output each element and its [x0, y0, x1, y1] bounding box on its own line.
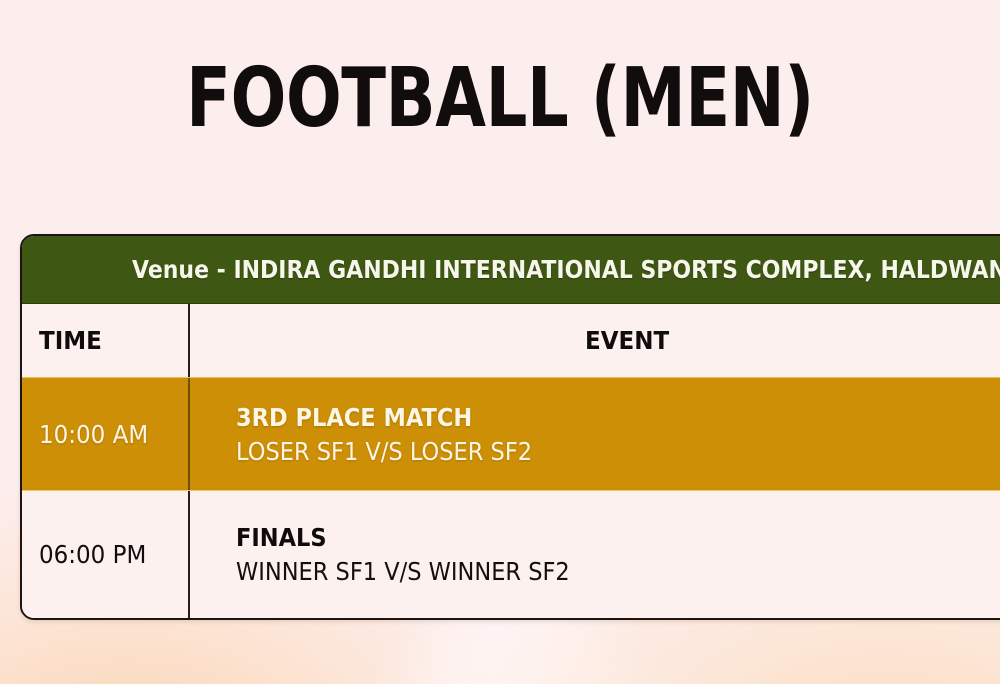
match-teams: WINNER SF1 V/S WINNER SF2 — [236, 557, 947, 586]
column-header-time: TIME — [39, 326, 102, 355]
schedule-table: Venue - INDIRA GANDHI INTERNATIONAL SPOR… — [20, 234, 1000, 620]
column-header-event: EVENT — [585, 326, 669, 355]
match-time: 10:00 AM — [39, 420, 148, 449]
header-cell-time: TIME — [22, 304, 190, 377]
row-cell-event: FINALS WINNER SF1 V/S WINNER SF2 — [190, 491, 1000, 618]
page-title: FOOTBALL (MEN) — [100, 58, 900, 140]
match-time: 06:00 PM — [39, 540, 146, 569]
table-header-row: TIME EVENT — [22, 304, 1000, 377]
header-cell-event: EVENT — [190, 304, 1000, 377]
venue-header: Venue - INDIRA GANDHI INTERNATIONAL SPOR… — [22, 236, 1000, 304]
row-cell-time: 10:00 AM — [22, 378, 190, 490]
row-cell-event: 3RD PLACE MATCH LOSER SF1 V/S LOSER SF2 — [190, 378, 1000, 490]
match-title: FINALS — [236, 523, 947, 552]
match-title: 3RD PLACE MATCH — [236, 403, 947, 432]
table-row: 06:00 PM FINALS WINNER SF1 V/S WINNER SF… — [22, 491, 1000, 618]
table-row: 10:00 AM 3RD PLACE MATCH LOSER SF1 V/S L… — [22, 377, 1000, 491]
match-teams: LOSER SF1 V/S LOSER SF2 — [236, 437, 947, 466]
venue-label: Venue - INDIRA GANDHI INTERNATIONAL SPOR… — [132, 255, 1000, 284]
row-cell-time: 06:00 PM — [22, 491, 190, 618]
